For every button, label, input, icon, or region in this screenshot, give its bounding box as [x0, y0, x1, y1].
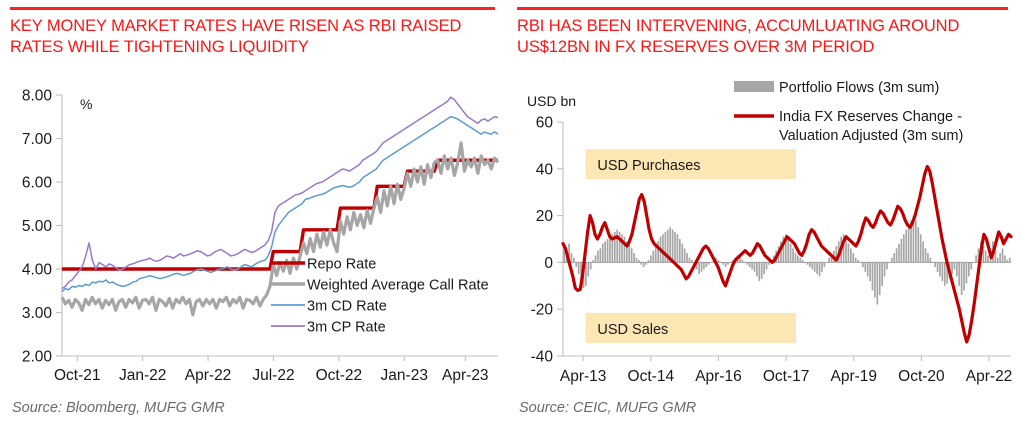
left-chart-plot: 2.003.004.005.006.007.008.00Oct-21Jan-22… — [0, 72, 511, 390]
left-chart-title: KEY MONEY MARKET RATES HAVE RISEN AS RBI… — [10, 16, 498, 58]
right-chart-svg: USD PurchasesUSD Sales-40-200204060Apr-1… — [511, 72, 1022, 390]
bar — [966, 262, 968, 283]
bar — [915, 220, 917, 262]
bar — [698, 262, 700, 274]
annotation-label: USD Purchases — [597, 158, 700, 174]
bar — [643, 262, 645, 267]
bar — [1002, 248, 1004, 262]
bar — [662, 234, 664, 262]
bar — [852, 253, 854, 262]
bar — [893, 253, 895, 262]
x-tick-label: Jan-23 — [381, 367, 428, 384]
bar — [616, 230, 618, 263]
bar — [725, 262, 727, 267]
bar — [679, 239, 681, 262]
bar — [1007, 260, 1009, 262]
bar — [677, 234, 679, 262]
x-tick-label: Apr-22 — [966, 368, 1013, 385]
bar — [590, 262, 592, 269]
bar — [956, 262, 958, 276]
bar — [867, 262, 869, 276]
bar — [905, 230, 907, 263]
bar — [939, 262, 941, 276]
bar — [814, 262, 816, 271]
legend-label-line1: India FX Reserves Change - — [779, 109, 962, 125]
bar — [932, 262, 934, 263]
bar — [638, 260, 640, 262]
bar — [720, 262, 722, 263]
x-tick-label: Oct-17 — [763, 368, 810, 385]
bar — [575, 262, 577, 267]
bar — [645, 262, 647, 264]
right-chart-panel: RBI HAS BEEN INTERVENING, ACCUMLUATING A… — [511, 0, 1022, 430]
bar — [749, 262, 751, 267]
bar — [968, 262, 970, 276]
x-tick-label: Jul-22 — [252, 367, 294, 384]
bar — [727, 262, 729, 264]
y-axis-title: USD bn — [527, 93, 576, 109]
bar — [951, 262, 953, 274]
bar — [823, 262, 825, 267]
bar — [821, 262, 823, 271]
bar — [609, 237, 611, 263]
legend-label-line2: Valuation Adjusted (3m sum) — [779, 128, 963, 144]
bar — [722, 262, 724, 264]
left-chart-svg: 2.003.004.005.006.007.008.00Oct-21Jan-22… — [0, 72, 511, 390]
bar — [599, 248, 601, 262]
bar — [917, 227, 919, 262]
bar — [963, 262, 965, 290]
bar — [886, 262, 888, 269]
bar — [730, 262, 732, 263]
bar — [850, 248, 852, 262]
bar — [640, 262, 642, 264]
bar — [876, 262, 878, 304]
bar — [624, 237, 626, 263]
legend-swatch — [734, 81, 774, 92]
right-chart-source: Source: CEIC, MUFG GMR — [519, 400, 696, 416]
bar — [975, 255, 977, 262]
legend-label: 3m CD Rate — [307, 299, 387, 315]
bar — [587, 262, 589, 276]
bar — [819, 262, 821, 276]
bar — [631, 248, 633, 262]
bar — [927, 253, 929, 262]
bar — [848, 244, 850, 263]
x-tick-label: Jan-22 — [119, 367, 166, 384]
bar — [703, 262, 705, 269]
annotation-label: USD Sales — [597, 322, 668, 338]
bar — [864, 262, 866, 271]
bar — [874, 262, 876, 297]
bar — [908, 225, 910, 262]
bar — [792, 248, 794, 262]
bar — [652, 251, 654, 263]
bar — [742, 260, 744, 262]
bar — [826, 262, 828, 263]
bar — [674, 232, 676, 262]
bar — [889, 262, 891, 263]
bar — [872, 262, 874, 290]
bar — [869, 262, 871, 281]
y-tick-label: 7.00 — [22, 131, 53, 148]
bar — [1004, 255, 1006, 262]
x-tick-label: Apr-23 — [442, 367, 489, 384]
y-tick-label: 6.00 — [22, 175, 53, 192]
bar — [795, 253, 797, 262]
bar — [595, 255, 597, 262]
bar — [958, 262, 960, 285]
bar — [804, 262, 806, 263]
bar — [746, 262, 748, 264]
bar — [929, 258, 931, 263]
bar — [987, 255, 989, 262]
bar — [896, 248, 898, 262]
bar — [961, 262, 963, 295]
bar — [857, 260, 859, 262]
bar — [665, 232, 667, 262]
y-tick-label: 60 — [536, 115, 554, 132]
right-chart-title: RBI HAS BEEN INTERVENING, ACCUMLUATING A… — [517, 16, 1013, 58]
x-tick-label: Oct-22 — [316, 367, 363, 384]
bar — [708, 262, 710, 264]
bar — [884, 262, 886, 276]
bar — [799, 258, 801, 263]
bar — [739, 258, 741, 263]
bar — [655, 246, 657, 262]
bar — [828, 258, 830, 263]
y-tick-label: -20 — [531, 302, 554, 319]
bar — [628, 244, 630, 263]
left-chart-panel: KEY MONEY MARKET RATES HAVE RISEN AS RBI… — [0, 0, 511, 430]
bar — [636, 258, 638, 263]
bar — [985, 251, 987, 263]
bar — [571, 253, 573, 262]
bar — [797, 255, 799, 262]
bar — [1009, 258, 1011, 263]
bar — [944, 262, 946, 285]
bar — [761, 262, 763, 278]
series-line — [62, 97, 498, 288]
x-tick-label: Apr-22 — [185, 367, 232, 384]
bar — [763, 262, 765, 274]
y-tick-label: 4.00 — [22, 262, 53, 279]
y-tick-label: 20 — [536, 208, 554, 225]
y-tick-label: 40 — [536, 161, 554, 178]
left-chart-source: Source: Bloomberg, MUFG GMR — [12, 400, 225, 416]
bar — [811, 262, 813, 269]
bar — [881, 262, 883, 285]
left-panel-top-rule — [10, 7, 495, 10]
x-tick-label: Oct-20 — [898, 368, 945, 385]
bar — [650, 255, 652, 262]
bar-series — [563, 216, 1010, 305]
bar — [937, 262, 939, 271]
bar — [648, 260, 650, 262]
bar — [898, 244, 900, 263]
bar — [845, 239, 847, 262]
y-tick-label: 5.00 — [22, 218, 53, 235]
bar — [855, 258, 857, 263]
bar — [744, 262, 746, 263]
bar — [925, 248, 927, 262]
right-chart-plot: USD PurchasesUSD Sales-40-200204060Apr-1… — [511, 72, 1022, 390]
bar — [604, 241, 606, 262]
bar — [602, 244, 604, 263]
bar — [672, 230, 674, 263]
bar — [942, 262, 944, 281]
bar — [973, 262, 975, 263]
y-tick-label: 2.00 — [22, 349, 53, 366]
x-tick-label: Oct-21 — [54, 367, 101, 384]
bar — [802, 260, 804, 262]
bar — [657, 241, 659, 262]
bar — [756, 262, 758, 276]
bar — [686, 253, 688, 262]
bar — [768, 262, 770, 264]
bar — [705, 262, 707, 267]
bar — [807, 262, 809, 264]
bar — [999, 253, 1001, 262]
x-tick-label: Apr-13 — [560, 368, 607, 385]
bar — [903, 234, 905, 262]
bar — [701, 262, 703, 271]
bar — [573, 258, 575, 263]
bar — [691, 260, 693, 262]
bar — [633, 253, 635, 262]
bar — [970, 262, 972, 269]
bar — [954, 262, 956, 269]
bar — [997, 258, 999, 263]
bar — [758, 262, 760, 281]
legend-label: Portfolio Flows (3m sum) — [779, 80, 939, 96]
bar — [681, 244, 683, 263]
bar — [684, 248, 686, 262]
y-axis-title: % — [80, 96, 92, 112]
bar — [922, 241, 924, 262]
dual-chart-board: KEY MONEY MARKET RATES HAVE RISEN AS RBI… — [0, 0, 1022, 430]
bar — [578, 262, 580, 274]
bar — [891, 258, 893, 263]
bar — [934, 262, 936, 267]
bar — [689, 258, 691, 263]
bar — [718, 260, 720, 262]
bar — [920, 234, 922, 262]
y-tick-label: 3.00 — [22, 305, 53, 322]
x-tick-label: Apr-16 — [695, 368, 742, 385]
bar — [592, 260, 594, 262]
bar — [790, 244, 792, 263]
bar — [766, 262, 768, 269]
bar — [787, 239, 789, 262]
y-tick-label: 0 — [544, 255, 553, 272]
legend-label: Weighted Average Call Rate — [307, 278, 489, 294]
bar — [816, 262, 818, 274]
bar — [597, 251, 599, 263]
y-tick-label: -40 — [531, 349, 554, 366]
bar — [607, 239, 609, 262]
legend-label: Repo Rate — [307, 257, 376, 273]
bar — [860, 262, 862, 263]
bar — [879, 262, 881, 295]
bar — [710, 262, 712, 263]
bar — [809, 262, 811, 267]
bar — [751, 262, 753, 269]
bar — [585, 262, 587, 285]
x-tick-label: Apr-19 — [830, 368, 877, 385]
y-tick-label: 8.00 — [22, 88, 53, 105]
bar — [754, 262, 756, 271]
bar — [862, 262, 864, 267]
bar — [901, 239, 903, 262]
legend-label: 3m CP Rate — [307, 320, 386, 336]
x-tick-label: Oct-14 — [628, 368, 675, 385]
right-panel-top-rule — [517, 7, 1008, 10]
